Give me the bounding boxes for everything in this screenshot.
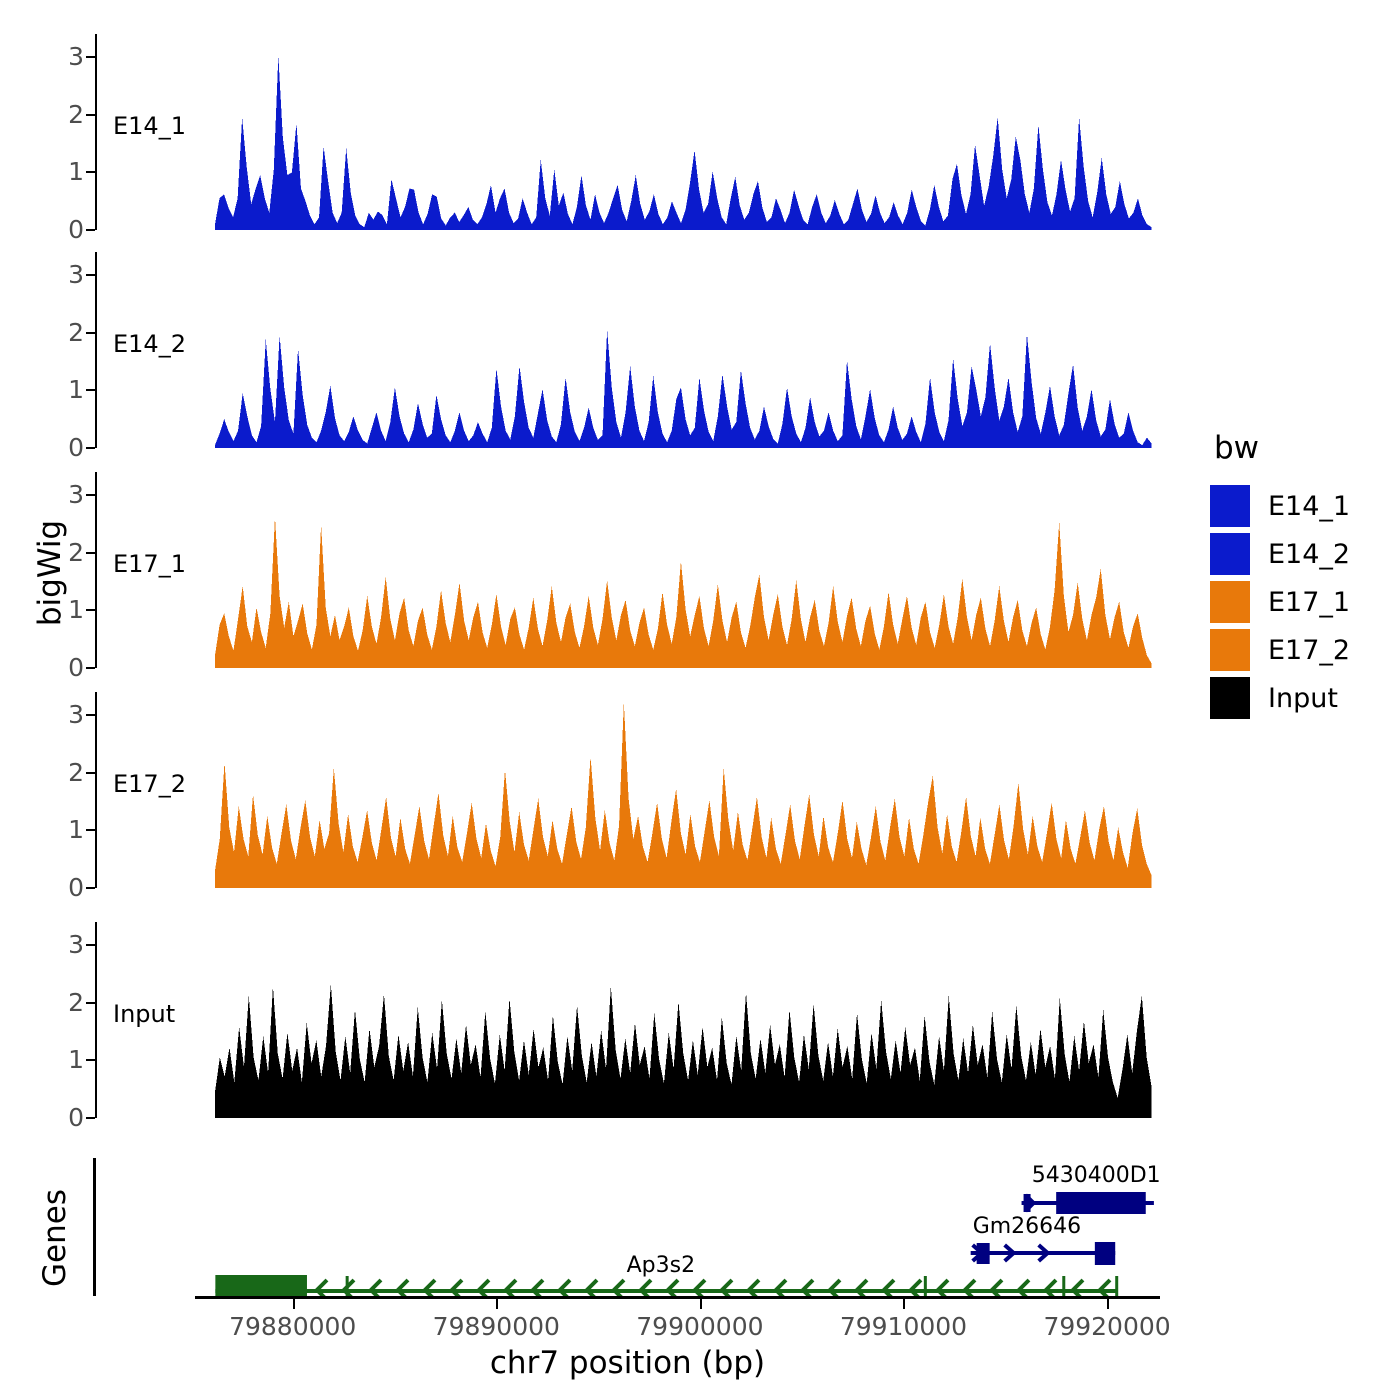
- y-tick: [86, 772, 95, 774]
- legend: bw E14_1E14_2E17_1E17_2Input: [1210, 430, 1350, 722]
- x-tick-label: 79920000: [1043, 1312, 1170, 1341]
- track-panel-e17_1: 0123E17_1: [95, 472, 1160, 668]
- track-panel-e14_1: 0123E14_1: [95, 34, 1160, 230]
- gene-label-ap3s2: Ap3s2: [627, 1253, 695, 1278]
- legend-label: Input: [1268, 683, 1338, 714]
- y-tick: [86, 1117, 95, 1119]
- y-tick: [86, 714, 95, 716]
- x-tick: [903, 1299, 905, 1309]
- legend-label: E14_2: [1268, 539, 1350, 570]
- x-tick-label: 79880000: [229, 1312, 356, 1341]
- legend-item-e14_1[interactable]: E14_1: [1210, 482, 1350, 530]
- legend-label: E14_1: [1268, 491, 1350, 522]
- legend-swatch: [1210, 581, 1250, 623]
- legend-swatch: [1210, 485, 1250, 527]
- track-axis-line: [95, 922, 97, 1118]
- wiggle-area-e14_2: [215, 252, 1151, 448]
- legend-item-e17_1[interactable]: E17_1: [1210, 578, 1350, 626]
- gene-label-5430400d12r: 5430400D12R: [1032, 1163, 1160, 1188]
- y-tick-label: 3: [68, 44, 84, 69]
- wiggle-area-e14_1: [215, 34, 1151, 230]
- y-tick-label: 2: [68, 320, 84, 345]
- genes-feature-area: 5430400D12R Gm26646 Ap3s2: [93, 1158, 1160, 1298]
- y-tick: [86, 1059, 95, 1061]
- genes-panel: 5430400D12R Gm26646 Ap3s2: [93, 1158, 1160, 1298]
- y-tick: [86, 829, 95, 831]
- y-tick-label: 2: [68, 990, 84, 1015]
- y-tick: [86, 494, 95, 496]
- y-tick-label: 1: [68, 817, 84, 842]
- track-label-e17_2: E17_2: [113, 770, 186, 798]
- y-tick-label: 3: [68, 702, 84, 727]
- legend-swatch: [1210, 533, 1250, 575]
- y-tick: [86, 56, 95, 58]
- y-tick: [86, 1002, 95, 1004]
- x-tick: [496, 1299, 498, 1309]
- y-tick-label: 2: [68, 540, 84, 565]
- y-tick-label: 3: [68, 482, 84, 507]
- legend-swatch: [1210, 677, 1250, 719]
- y-tick-label: 2: [68, 760, 84, 785]
- x-axis-title: chr7 position (bp): [95, 1345, 1160, 1381]
- track-panel-input: 0123Input: [95, 922, 1160, 1118]
- y-axis-title-bigwig: bigWig: [32, 493, 68, 653]
- y-tick: [86, 274, 95, 276]
- y-tick-label: 3: [68, 932, 84, 957]
- y-tick: [86, 229, 95, 231]
- x-tick: [293, 1299, 295, 1309]
- y-tick: [86, 447, 95, 449]
- y-axis-title-genes: Genes: [37, 1173, 73, 1303]
- track-axis-line: [95, 252, 97, 448]
- y-tick-label: 0: [68, 875, 84, 900]
- track-label-e17_1: E17_1: [113, 550, 186, 578]
- genome-browser-figure: bigWig Genes chr7 position (bp) 0123E14_…: [0, 0, 1400, 1400]
- legend-swatch: [1210, 629, 1250, 671]
- wiggle-area-input: [215, 922, 1151, 1118]
- x-tick: [700, 1299, 702, 1309]
- y-tick: [86, 944, 95, 946]
- y-tick: [86, 609, 95, 611]
- y-tick-label: 0: [68, 217, 84, 242]
- x-tick: [1107, 1299, 1109, 1309]
- track-axis-line: [95, 34, 97, 230]
- legend-item-input[interactable]: Input: [1210, 674, 1350, 722]
- y-tick-label: 2: [68, 102, 84, 127]
- x-tick-label: 79900000: [636, 1312, 763, 1341]
- y-tick-label: 1: [68, 159, 84, 184]
- track-panel-e14_2: 0123E14_2: [95, 252, 1160, 448]
- y-tick-label: 1: [68, 377, 84, 402]
- y-tick-label: 1: [68, 1047, 84, 1072]
- track-label-e14_1: E14_1: [113, 112, 186, 140]
- y-tick: [86, 114, 95, 116]
- x-axis-line: [195, 1296, 1160, 1299]
- y-tick: [86, 332, 95, 334]
- legend-label: E17_1: [1268, 587, 1350, 618]
- legend-title: bw: [1214, 430, 1350, 466]
- track-label-e14_2: E14_2: [113, 330, 186, 358]
- x-axis: 7988000079890000799000007991000079920000: [195, 1296, 1160, 1342]
- wiggle-area-e17_2: [215, 692, 1151, 888]
- track-axis-line: [95, 472, 97, 668]
- x-tick-label: 79890000: [433, 1312, 560, 1341]
- x-tick-label: 79910000: [840, 1312, 967, 1341]
- track-label-input: Input: [113, 1000, 175, 1028]
- y-tick-label: 0: [68, 1105, 84, 1130]
- y-tick: [86, 389, 95, 391]
- y-tick-label: 0: [68, 655, 84, 680]
- y-tick: [86, 887, 95, 889]
- gene-label-gm26646: Gm26646: [973, 1214, 1081, 1239]
- y-tick: [86, 552, 95, 554]
- legend-label: E17_2: [1268, 635, 1350, 666]
- wiggle-area-e17_1: [215, 472, 1151, 668]
- y-tick-label: 3: [68, 262, 84, 287]
- y-tick-label: 0: [68, 435, 84, 460]
- y-tick-label: 1: [68, 597, 84, 622]
- y-tick: [86, 171, 95, 173]
- track-axis-line: [95, 692, 97, 888]
- y-tick: [86, 667, 95, 669]
- legend-item-e14_2[interactable]: E14_2: [1210, 530, 1350, 578]
- legend-item-e17_2[interactable]: E17_2: [1210, 626, 1350, 674]
- track-panel-e17_2: 0123E17_2: [95, 692, 1160, 888]
